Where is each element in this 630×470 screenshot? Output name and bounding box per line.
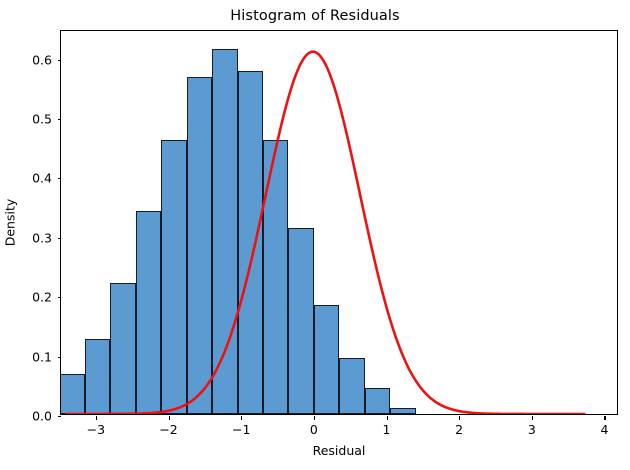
x-axis-label: Residual	[60, 443, 618, 458]
histogram-bar	[365, 388, 390, 414]
histogram-bar	[212, 49, 237, 414]
histogram-bar	[238, 71, 263, 414]
histogram-bar	[85, 339, 110, 414]
y-tick-mark	[58, 297, 62, 298]
y-tick-mark	[58, 238, 62, 239]
x-tick-mark	[604, 416, 605, 420]
y-tick-label: 0.5	[32, 111, 52, 126]
x-tick-mark	[532, 416, 533, 420]
y-tick-mark	[58, 60, 62, 61]
y-tick-label: 0.0	[32, 409, 52, 424]
x-tick-label: −1	[232, 422, 250, 437]
x-tick-label: 2	[455, 422, 463, 437]
x-tick-label: 0	[310, 422, 318, 437]
histogram-bar	[110, 283, 135, 414]
y-tick-mark	[58, 178, 62, 179]
histogram-bar	[390, 408, 415, 414]
histogram-bar	[263, 140, 288, 414]
x-tick-label: −2	[159, 422, 177, 437]
x-tick-mark	[387, 416, 388, 420]
y-tick-label: 0.2	[32, 290, 52, 305]
histogram-bar	[136, 211, 161, 414]
histogram-bar	[314, 305, 339, 414]
y-tick-label: 0.4	[32, 171, 52, 186]
histogram-bar	[339, 358, 364, 414]
x-tick-mark	[169, 416, 170, 420]
histogram-bar	[288, 228, 313, 414]
x-tick-label: −3	[87, 422, 105, 437]
plot-area: −3−2−101234 0.00.10.20.30.40.50.6	[60, 30, 618, 415]
x-tick-label: 4	[600, 422, 608, 437]
histogram-figure: Histogram of Residuals Density −3−2−1012…	[0, 0, 630, 470]
histogram-bar	[187, 77, 212, 414]
y-axis-label-text: Density	[3, 199, 18, 247]
y-tick-mark	[58, 357, 62, 358]
y-tick-label: 0.1	[32, 349, 52, 364]
page-title: Histogram of Residuals	[0, 8, 630, 24]
x-tick-mark	[459, 416, 460, 420]
y-axis-label: Density	[2, 30, 18, 415]
y-tick-mark	[58, 416, 62, 417]
y-tick-label: 0.6	[32, 52, 52, 67]
y-tick-label: 0.3	[32, 230, 52, 245]
y-tick-mark	[58, 119, 62, 120]
plot-inner	[61, 31, 617, 414]
x-tick-mark	[241, 416, 242, 420]
x-tick-label: 3	[528, 422, 536, 437]
x-tick-mark	[96, 416, 97, 420]
x-tick-label: 1	[383, 422, 391, 437]
histogram-bar	[61, 374, 85, 414]
histogram-bar	[161, 140, 186, 414]
x-tick-mark	[314, 416, 315, 420]
